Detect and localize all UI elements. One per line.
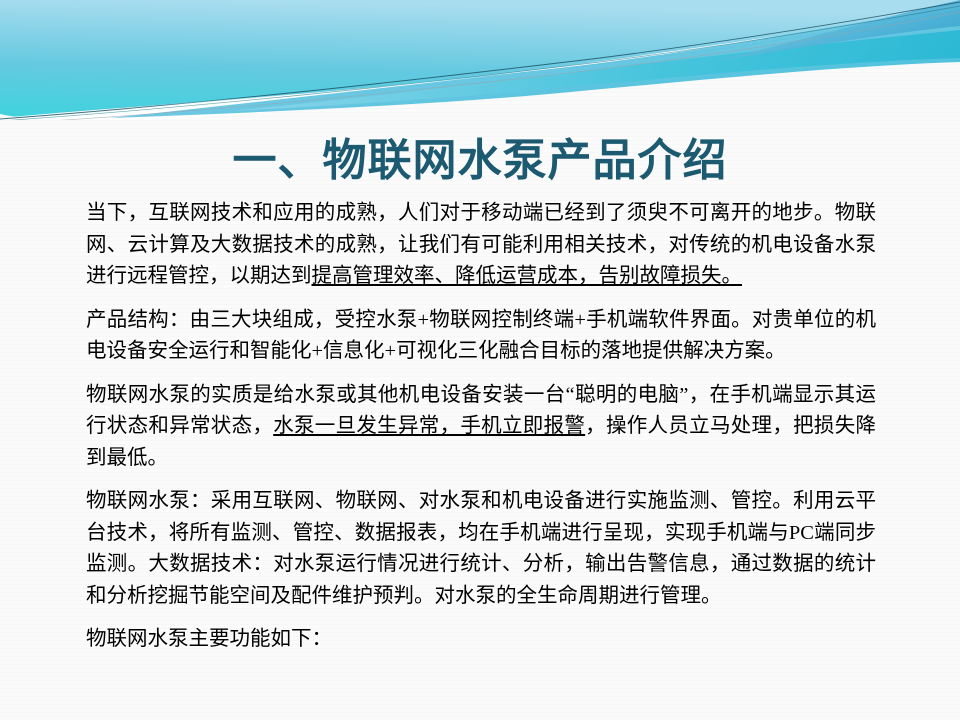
body-paragraph: 物联网水泵：采用互联网、物联网、对水泵和机电设备进行实施监测、管控。利用云平台技… bbox=[86, 486, 876, 612]
body-paragraph: 物联网水泵主要功能如下： bbox=[86, 624, 876, 656]
header-wave-decoration bbox=[0, 0, 960, 120]
body-paragraph: 当下，互联网技术和应用的成熟，人们对于移动端已经到了须臾不可离开的地步。物联网、… bbox=[86, 198, 876, 293]
text-run: 产品结构：由三大块组成，受控水泵+物联网控制终端+手机端软件界面。对贵单位的机电… bbox=[86, 309, 876, 363]
slide-body: 当下，互联网技术和应用的成熟，人们对于移动端已经到了须臾不可离开的地步。物联网、… bbox=[86, 198, 876, 656]
text-run: 物联网水泵主要功能如下： bbox=[86, 628, 332, 650]
emphasized-text-run: 水泵一旦发生异常，手机立即报警 bbox=[273, 415, 585, 437]
header-wave-svg bbox=[0, 0, 960, 120]
presentation-slide: 一、物联网水泵产品介绍 当下，互联网技术和应用的成熟，人们对于移动端已经到了须臾… bbox=[0, 0, 960, 720]
body-paragraph: 产品结构：由三大块组成，受控水泵+物联网控制终端+手机端软件界面。对贵单位的机电… bbox=[86, 305, 876, 368]
body-paragraph: 物联网水泵的实质是给水泵或其他机电设备安装一台“聪明的电脑”，在手机端显示其运行… bbox=[86, 380, 876, 475]
emphasized-text-run: 提高管理效率、降低运营成本，告别故障损失。 bbox=[312, 265, 743, 287]
slide-title: 一、物联网水泵产品介绍 bbox=[0, 133, 960, 189]
text-run: 物联网水泵：采用互联网、物联网、对水泵和机电设备进行实施监测、管控。利用云平台技… bbox=[86, 490, 876, 607]
